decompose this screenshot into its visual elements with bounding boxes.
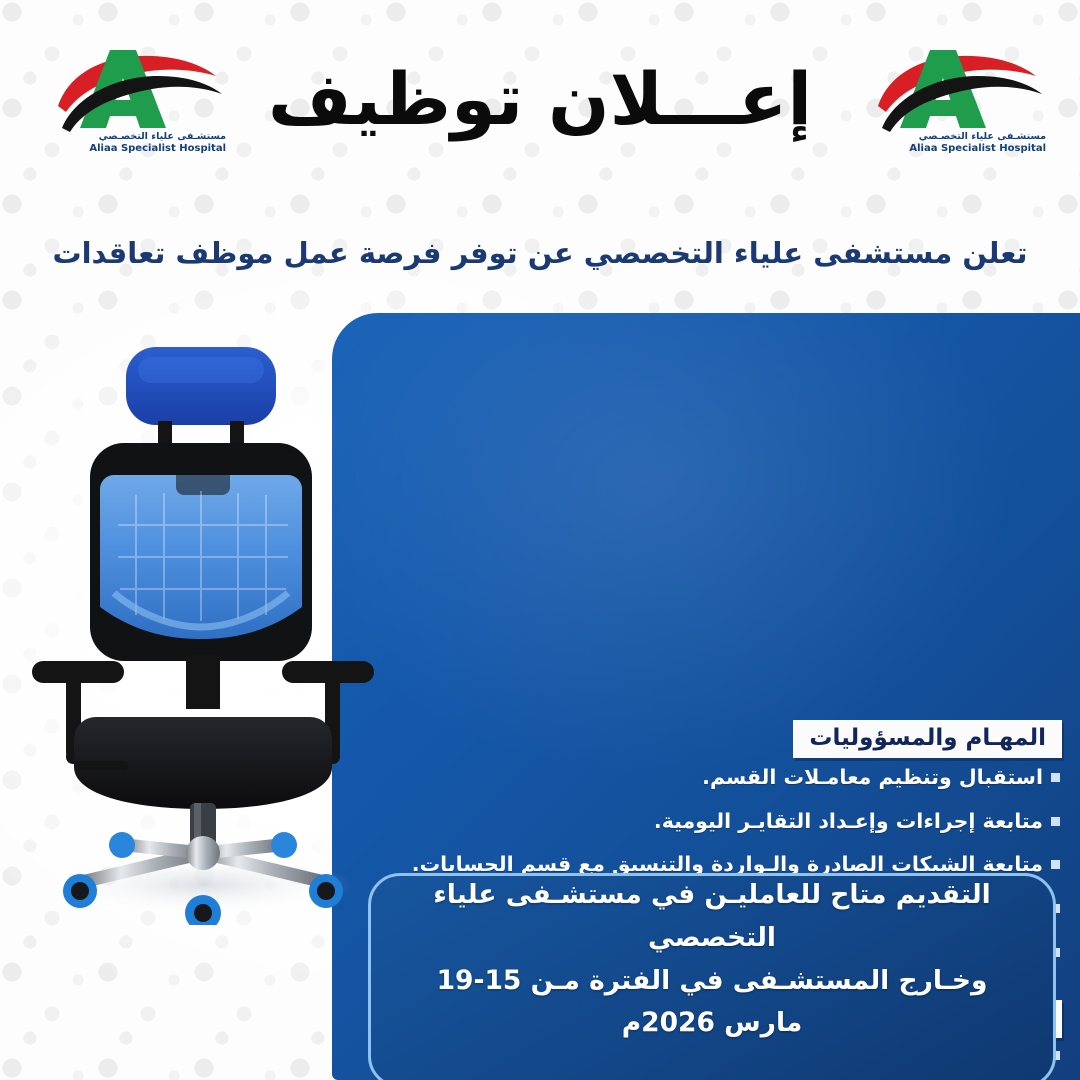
svg-text:Aliaa Specialist Hospital: Aliaa Specialist Hospital (909, 143, 1046, 154)
announcement-subtitle: تعلن مستشفى علياء التخصصي عن توفر فرصة ع… (40, 236, 1040, 270)
bullet-square-icon (1051, 773, 1060, 782)
list-item: استقبال وتنظيم معامـلات القسم. (360, 765, 1060, 791)
job-announcement-poster: مستشـفى علياء التخصـصي Aliaa Specialist … (0, 0, 1080, 1080)
bullet-square-icon (1051, 860, 1060, 869)
svg-text:Aliaa Specialist Hospital: Aliaa Specialist Hospital (89, 143, 226, 154)
application-period-box: التقديم متاح للعامليـن في مستشـفى علياء … (368, 873, 1056, 1080)
list-item-text: متابعة إجراءات وإعـداد التقايـر اليومية. (654, 809, 1043, 835)
section-heading-duties: المهـام والمسؤوليات (793, 720, 1062, 758)
footer-line-2: وخـارج المستشـفى في الفترة مـن 15-19 مار… (397, 960, 1027, 1046)
list-item-text: استقبال وتنظيم معامـلات القسم. (702, 765, 1043, 791)
application-period-text: التقديم متاح للعامليـن في مستشـفى علياء … (371, 874, 1053, 1080)
page-title: إعـــلان توظيف (0, 58, 1080, 141)
bullet-square-icon (1051, 817, 1060, 826)
list-item: متابعة إجراءات وإعـداد التقايـر اليومية. (360, 809, 1060, 835)
footer-line-1: التقديم متاح للعامليـن في مستشـفى علياء … (397, 874, 1027, 960)
office-chair-illustration (18, 325, 388, 925)
